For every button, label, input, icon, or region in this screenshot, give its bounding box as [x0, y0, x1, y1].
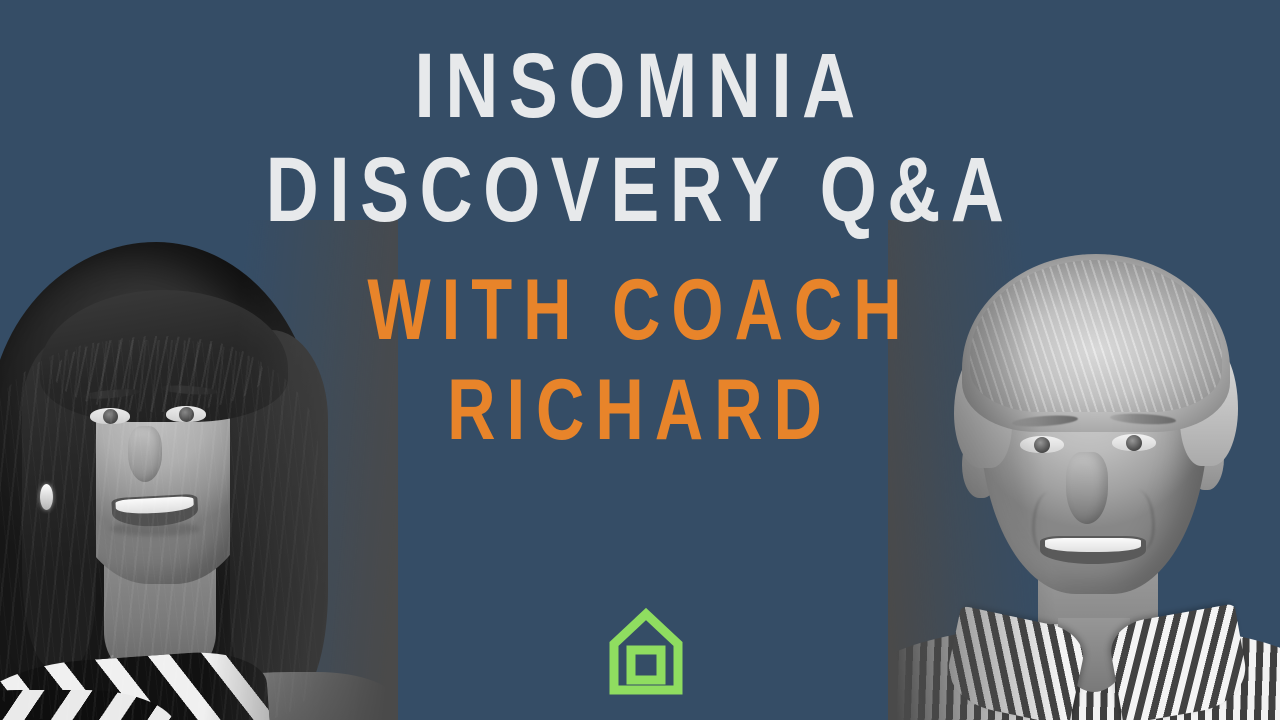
woman-hair-strands — [0, 340, 318, 720]
man-eye-left — [1020, 436, 1064, 453]
man-iris-right — [1126, 435, 1142, 451]
man-teeth — [1045, 538, 1141, 552]
man-nose — [1066, 452, 1108, 524]
video-thumbnail: INSOMNIA DISCOVERY Q&A WITH COACH RICHAR… — [0, 0, 1280, 720]
house-logo — [608, 604, 684, 696]
man-hair — [962, 254, 1230, 432]
man-portrait — [888, 220, 1280, 720]
man-iris-left — [1034, 437, 1050, 453]
house-window-icon — [631, 650, 661, 680]
man-mouth — [1040, 536, 1146, 564]
woman-portrait — [0, 220, 398, 720]
man-eye-right — [1112, 434, 1156, 451]
man-portrait-art — [888, 220, 1280, 720]
woman-portrait-art — [0, 220, 398, 720]
